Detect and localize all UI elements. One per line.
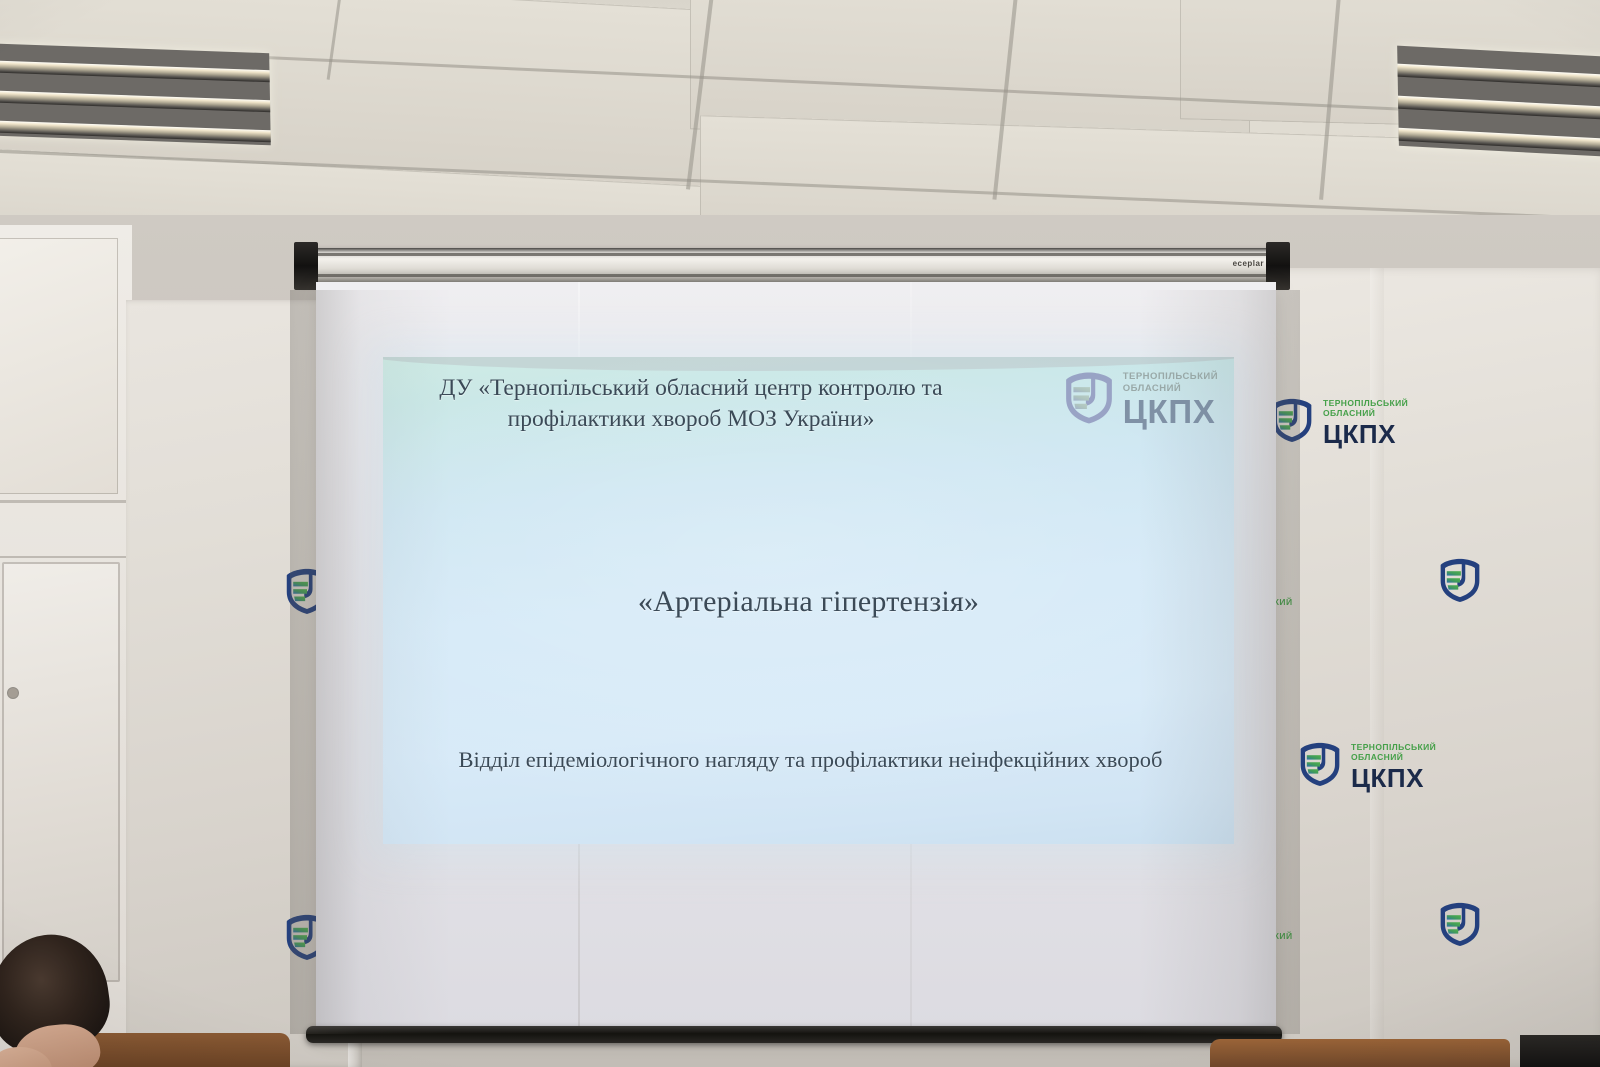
branded-backdrop-right: ТЕРНОПІЛЬСЬКИЙ ОБЛАСНИЙ ЦКПХ — [1222, 268, 1600, 1067]
slide-logo-words: ТЕРНОПІЛЬСЬКИЙ ОБЛАСНИЙ ЦКПХ — [1123, 372, 1218, 428]
ceiling-light-left — [0, 43, 271, 146]
ceiling-light-right — [1397, 46, 1600, 159]
backdrop-shield-mark-3 — [1438, 556, 1482, 609]
housing-end-cap-left — [294, 242, 318, 290]
cpcd-shield-icon — [1438, 556, 1482, 609]
room-photo: ТЕРНОПІЛЬСЬКИЙ ОБЛАСНИЙ ЦКПХ — [0, 0, 1600, 1067]
wall-seam-2 — [0, 556, 128, 558]
logo-line-2: ОБЛАСНИЙ — [1323, 409, 1408, 418]
projection-screen-housing: eceplar — [300, 248, 1284, 284]
backdrop-shield-mark-4 — [1438, 900, 1482, 953]
backdrop-logo-words: ТЕРНОПІЛЬСЬКИЙ ОБЛАСНИЙ ЦКПХ — [1351, 743, 1436, 791]
suspended-ceiling — [0, 0, 1600, 250]
cpcd-shield-icon — [1298, 740, 1342, 793]
slide-logo: ТЕРНОПІЛЬСЬКИЙ ОБЛАСНИЙ ЦКПХ — [1063, 369, 1218, 431]
backdrop-logo-words: ТЕРНОПІЛЬСЬКИЙ ОБЛАСНИЙ ЦКПХ — [1323, 399, 1408, 447]
logo-acronym: ЦКПХ — [1123, 395, 1218, 428]
logo-line-1: ТЕРНОПІЛЬСЬКИЙ — [1323, 399, 1408, 408]
logo-line-2: ОБЛАСНИЙ — [1123, 384, 1218, 394]
slide-header-text: ДУ «Тернопільський обласний центр контро… — [411, 373, 971, 435]
wall-panel-upper-left — [0, 238, 118, 494]
logo-acronym: ЦКПХ — [1323, 421, 1408, 447]
slide-title-text: «Артеріальна гіпертензія» — [383, 585, 1234, 619]
chair-back — [1520, 1035, 1600, 1067]
table-right — [1210, 1039, 1510, 1067]
audience-person — [0, 921, 130, 1067]
logo-line-2: ОБЛАСНИЙ — [1351, 753, 1436, 762]
cpcd-shield-icon — [1270, 396, 1314, 449]
logo-acronym: ЦКПХ — [1351, 765, 1436, 791]
logo-line-1: ТЕРНОПІЛЬСЬКИЙ — [1351, 743, 1436, 752]
slide-footer-text: Відділ епідеміологічного нагляду та проф… — [423, 745, 1198, 775]
door-lock-icon — [8, 688, 18, 698]
cpcd-shield-icon — [1438, 900, 1482, 953]
projection-screen-weight-bar — [306, 1026, 1282, 1043]
cpcd-shield-icon — [1063, 369, 1115, 431]
projected-slide: ДУ «Тернопільський обласний центр контро… — [383, 357, 1234, 844]
logo-line-1: ТЕРНОПІЛЬСЬКИЙ — [1123, 372, 1218, 382]
backdrop-logo-full-1: ТЕРНОПІЛЬСЬКИЙ ОБЛАСНИЙ ЦКПХ — [1270, 396, 1408, 449]
wall-door-panel[interactable] — [2, 562, 120, 982]
screen-brand-label: eceplar — [1233, 259, 1264, 268]
wall-seam — [0, 500, 128, 503]
projection-screen: ДУ «Тернопільський обласний центр контро… — [316, 282, 1276, 1034]
backdrop-logo-full-2: ТЕРНОПІЛЬСЬКИЙ ОБЛАСНИЙ ЦКПХ — [1298, 740, 1436, 793]
